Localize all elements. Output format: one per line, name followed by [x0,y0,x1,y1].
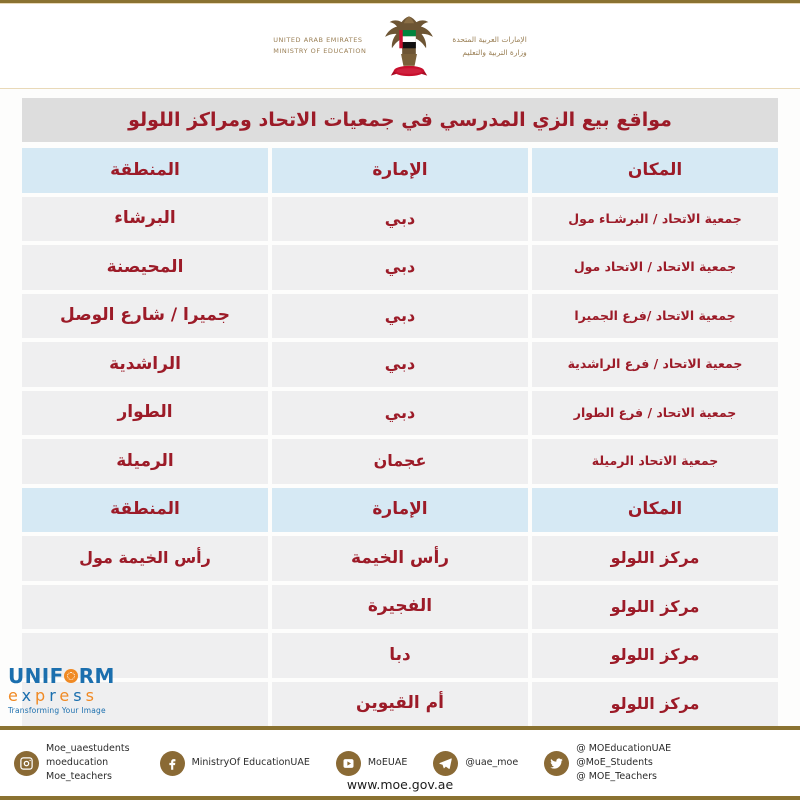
cell-place: جمعية الاتحاد / فرع الطوار [532,391,778,436]
table-row: جميرا / شارع الوصل دبي جمعية الاتحاد /فر… [22,294,778,339]
table-row: الطوار دبي جمعية الاتحاد / فرع الطوار [22,391,778,436]
table-row: أم القيوين مركز اللولو [22,682,778,727]
cell-region [22,682,268,727]
table-row: المحيصنة دبي جمعية الاتحاد / الاتحاد مول [22,245,778,290]
instagram-handle-1: Moe_uaestudents [46,742,130,756]
document-title-bar: مواقع بيع الزي المدرسي في جمعيات الاتحاد… [22,98,778,142]
facebook-handle: MinistryOf EducationUAE [192,758,310,768]
masthead: UNITED ARAB EMIRATES MINISTRY OF EDUCATI… [0,4,800,88]
cell-place: جمعية الاتحاد الرميلة [532,439,778,484]
table-row: الرميلة عجمان جمعية الاتحاد الرميلة [22,439,778,484]
cell-emirate: عجمان [272,439,528,484]
masthead-en-line1: UNITED ARAB EMIRATES [273,35,366,46]
document-page: UNITED ARAB EMIRATES MINISTRY OF EDUCATI… [0,0,800,800]
column-header-place: المكان [532,148,778,193]
youtube-icon [336,751,361,776]
table-sheet: مواقع بيع الزي المدرسي في جمعيات الاتحاد… [0,89,800,726]
cell-place: جمعية الاتحاد / البرشـاء مول [532,197,778,242]
cell-region: البرشاء [22,197,268,242]
ue-char-e1: e [8,686,22,705]
instagram-handle-3: Moe_teachers [46,770,130,784]
cell-place: جمعية الاتحاد / الاتحاد مول [532,245,778,290]
table-row: الفجيرة مركز اللولو [22,585,778,630]
cell-emirate: دبي [272,294,528,339]
social-twitter[interactable]: @ MOEducationUAE @MoE_Students @ MOE_Tea… [544,742,671,785]
cell-place: مركز اللولو [532,536,778,581]
cell-emirate: رأس الخيمة [272,536,528,581]
locations-table: المنطقة الإمارة المكان البرشاء دبي جمعية… [22,148,778,726]
masthead-en-line2: MINISTRY OF EDUCATION [273,46,366,57]
cell-place: مركز اللولو [532,585,778,630]
cell-emirate: دبي [272,197,528,242]
twitter-handle-2: @MoE_Students [576,756,671,770]
column-header-emirate: الإمارة [272,488,528,533]
cell-emirate: دبي [272,245,528,290]
masthead-ar-line2: وزارة التربية والتعليم [452,46,526,59]
column-header-region: المنطقة [22,148,268,193]
instagram-handle-2: moeducation [46,756,130,770]
cell-region: رأس الخيمة مول [22,536,268,581]
cell-emirate: دبا [272,633,528,678]
cell-region: الطوار [22,391,268,436]
youtube-handle: MoEUAE [368,758,407,768]
masthead-ar-line1: الإمارات العربية المتحدة [452,33,526,46]
cell-emirate: أم القيوين [272,682,528,727]
twitter-handle-1: @ MOEducationUAE [576,742,671,756]
table-row: دبا مركز اللولو [22,633,778,678]
column-header-place: المكان [532,488,778,533]
column-header-region: المنطقة [22,488,268,533]
telegram-icon [433,751,458,776]
uae-falcon-emblem-icon [380,13,438,79]
twitter-handle-3: @ MOE_Teachers [576,770,671,784]
table-row: رأس الخيمة مول رأس الخيمة مركز اللولو [22,536,778,581]
social-footer: Moe_uaestudents moeducation Moe_teachers… [0,730,800,796]
cell-region [22,585,268,630]
table-header-row-secondary: المنطقة الإمارة المكان [22,488,778,533]
cell-place: مركز اللولو [532,633,778,678]
social-youtube[interactable]: MoEUAE [336,751,407,776]
footer-bottom-rule [0,796,800,800]
cell-region: جميرا / شارع الوصل [22,294,268,339]
cell-region: الراشدية [22,342,268,387]
cell-emirate: دبي [272,391,528,436]
twitter-handles: @ MOEducationUAE @MoE_Students @ MOE_Tea… [576,742,671,785]
facebook-icon [160,751,185,776]
social-telegram[interactable]: @uae_moe [433,751,518,776]
table-row: البرشاء دبي جمعية الاتحاد / البرشـاء مول [22,197,778,242]
table-header-row: المنطقة الإمارة المكان [22,148,778,193]
page-title: مواقع بيع الزي المدرسي في جمعيات الاتحاد… [128,109,672,131]
social-facebook[interactable]: MinistryOf EducationUAE [160,751,310,776]
cell-region [22,633,268,678]
twitter-icon [544,751,569,776]
cell-region: الرميلة [22,439,268,484]
cell-region: المحيصنة [22,245,268,290]
telegram-handle: @uae_moe [465,758,518,768]
cell-place: جمعية الاتحاد /فرع الجميرا [532,294,778,339]
table-row: الراشدية دبي جمعية الاتحاد / فرع الراشدي… [22,342,778,387]
instagram-handles: Moe_uaestudents moeducation Moe_teachers [46,742,130,785]
instagram-icon [14,751,39,776]
cell-place: جمعية الاتحاد / فرع الراشدية [532,342,778,387]
cell-place: مركز اللولو [532,682,778,727]
cell-emirate: دبي [272,342,528,387]
masthead-english: UNITED ARAB EMIRATES MINISTRY OF EDUCATI… [273,35,366,58]
cell-emirate: الفجيرة [272,585,528,630]
column-header-emirate: الإمارة [272,148,528,193]
social-instagram[interactable]: Moe_uaestudents moeducation Moe_teachers [14,742,130,785]
masthead-arabic: الإمارات العربية المتحدة وزارة التربية و… [452,33,526,59]
